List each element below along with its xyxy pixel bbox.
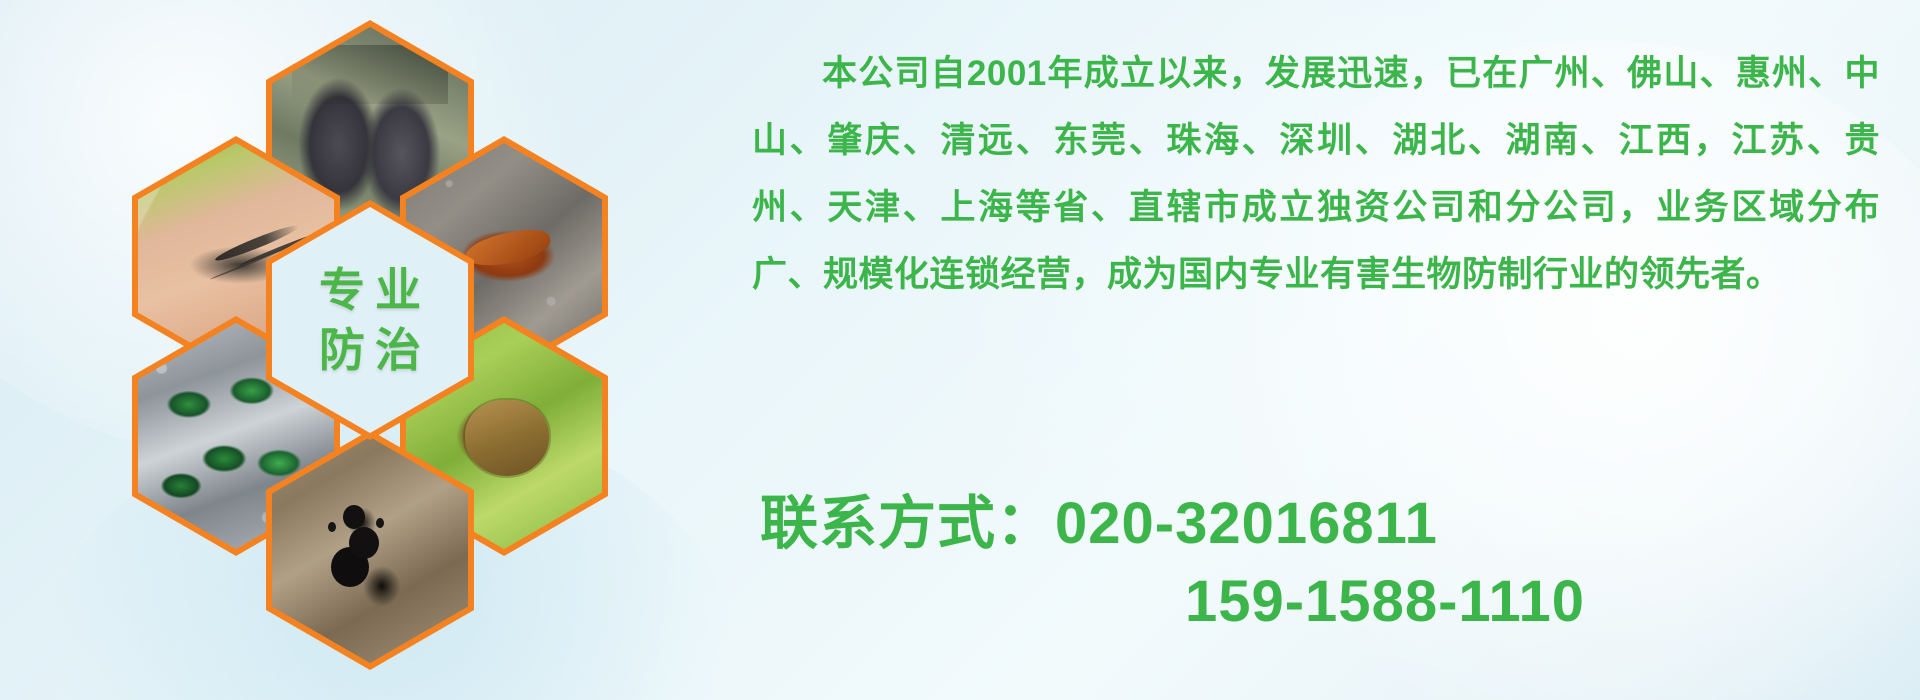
promotional-banner: 专业 防治 本公司自2001年成立以来，发展迅速，已在广州、佛山、惠州、中山、肇… <box>0 0 1920 700</box>
slogan-line-2: 防治 <box>309 327 431 373</box>
text-content-column: 本公司自2001年成立以来，发展迅速，已在广州、佛山、惠州、中山、肇庆、清远、东… <box>740 0 1900 700</box>
company-intro-paragraph: 本公司自2001年成立以来，发展迅速，已在广州、佛山、惠州、中山、肇庆、清远、东… <box>752 40 1880 308</box>
honeycomb-photo-cluster: 专业 防治 <box>96 8 676 688</box>
ant-photo <box>272 437 468 663</box>
hex-inner-slogan: 专业 防治 <box>272 207 468 433</box>
contact-primary-line[interactable]: 联系方式：020-32016811 <box>760 490 1880 558</box>
contact-block: 联系方式：020-32016811 159-1588-1110 <box>760 490 1880 637</box>
slogan-line-1: 专业 <box>309 267 431 313</box>
slogan-label: 专业 防治 <box>272 207 468 433</box>
contact-secondary-phone[interactable]: 159-1588-1110 <box>760 568 1880 636</box>
hex-inner-ant <box>272 437 468 663</box>
